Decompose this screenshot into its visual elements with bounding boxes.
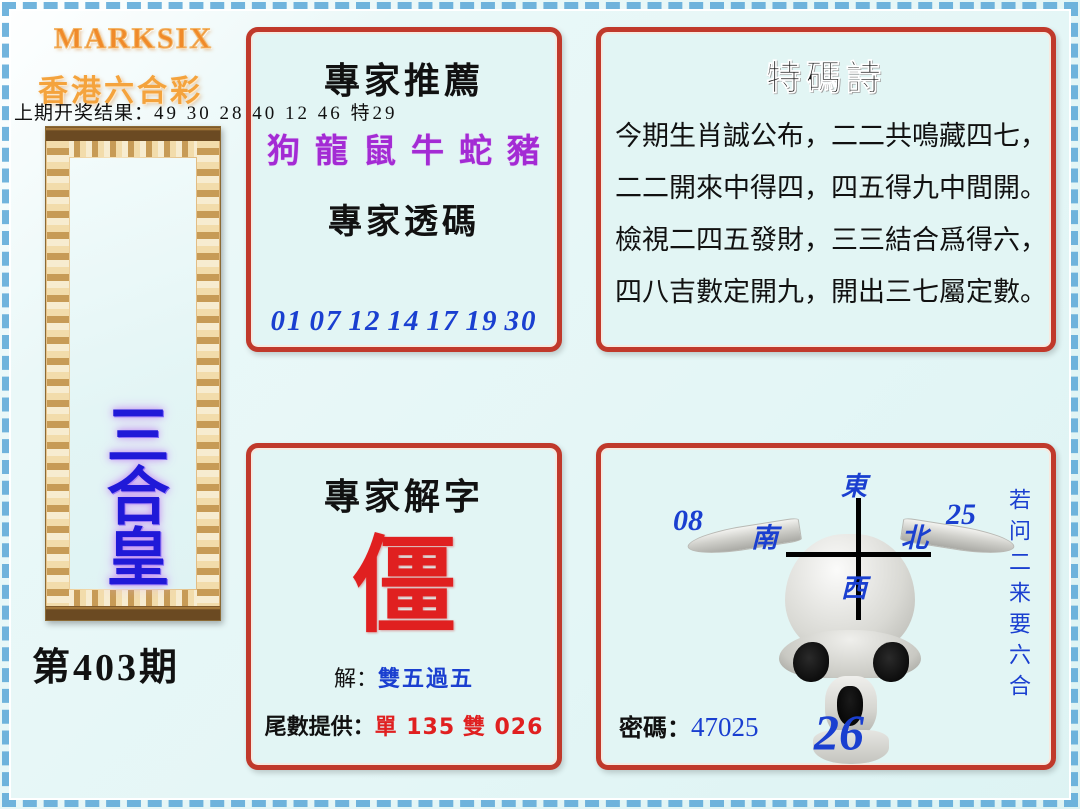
skull-number-left: 08 (673, 504, 703, 538)
poem-line-1: 二二開來中得四，四五得九中間開。 (615, 166, 1051, 205)
skull-illustration-wrap: 東 西 南 北 08 25 26 若问二来要六合 密碼：47025 (601, 448, 1051, 765)
issue-period: 第403期 (32, 636, 180, 691)
zodiac-item-2: 鼠 (363, 131, 397, 170)
tail-odd: 單 135 (375, 715, 456, 740)
tail-number-row: 尾數提供：單 135 雙 026 (251, 709, 557, 741)
skull-eye-right (873, 642, 909, 682)
scroll-banner: 三合皇 (45, 126, 221, 621)
scroll-title: 三合皇 (102, 402, 163, 585)
skull-horn-left (686, 517, 802, 559)
skull-number-big: 26 (814, 703, 864, 761)
skull-eye-left (793, 642, 829, 682)
expert-code-2: 12 (349, 305, 382, 337)
scroll-paper: 三合皇 (70, 158, 196, 589)
expert-code-1: 07 (310, 305, 343, 337)
direction-east: 東 (841, 466, 867, 503)
brand-latin: MARKSIX (54, 22, 213, 56)
passcode-label: 密碼： (619, 714, 691, 742)
expert-code-6: 30 (505, 305, 538, 337)
zodiac-item-3: 牛 (411, 131, 445, 170)
expert-card-subtitle: 專家透碼 (251, 194, 557, 243)
zodiac-item-4: 蛇 (459, 131, 493, 170)
tail-even: 雙 026 (463, 715, 544, 740)
passcode-value: 47025 (691, 712, 759, 742)
zodiac-item-5: 豬 (507, 131, 541, 170)
tail-label: 尾數提供： (265, 715, 375, 740)
expert-code-0: 01 (271, 305, 304, 337)
poem-line-2: 檢視二四五發財，三三結合爲得六， (615, 218, 1051, 257)
expert-code-row: 01071214171930 (251, 305, 557, 338)
skull-number-right: 25 (946, 498, 976, 532)
solve-value: 雙五過五 (378, 667, 474, 692)
expert-code-4: 17 (427, 305, 460, 337)
big-character: 僵 (251, 534, 557, 639)
character-decode-card: 專家解字 僵 解：雙五過五 尾數提供：單 135 雙 026 (246, 443, 562, 770)
scroll-ring-right (197, 141, 219, 606)
poem-card-title: 特碼詩 (601, 50, 1051, 101)
expert-card-title: 專家推薦 (251, 52, 557, 104)
special-code-poem-card: 特碼詩 今期生肖誠公布，二二共鳴藏四七， 二二開來中得四，四五得九中間開。 檢視… (596, 27, 1056, 352)
scroll-ring-top (68, 141, 198, 157)
solve-row: 解：雙五過五 (251, 661, 557, 693)
passcode-row: 密碼：47025 (619, 708, 759, 743)
last-result-line: 上期开奖结果：49 30 28 40 12 46 特29 (14, 98, 574, 125)
zodiac-item-1: 龍 (315, 131, 349, 170)
page-root: MARKSIX 香港六合彩 三合皇 第403期 上期开奖结果：49 30 28 … (0, 0, 1080, 809)
scroll-ring-bottom (68, 590, 198, 606)
expert-code-3: 14 (388, 305, 421, 337)
scroll-ring-left (47, 141, 69, 606)
last-result-label: 上期开奖结果： (14, 103, 154, 124)
solve-label: 解： (334, 667, 378, 692)
expert-recommendation-card: 專家推薦 狗龍鼠牛蛇豬 專家透碼 01071214171930 (246, 27, 562, 352)
char-card-title: 專家解字 (251, 468, 557, 520)
zodiac-item-0: 狗 (267, 131, 301, 170)
expert-code-5: 19 (466, 305, 499, 337)
last-result-numbers: 49 30 28 40 12 46 特29 (154, 103, 398, 124)
poem-line-0: 今期生肖誠公布，二二共鳴藏四七， (615, 114, 1051, 153)
skull-compass-card: 東 西 南 北 08 25 26 若问二来要六合 密碼：47025 (596, 443, 1056, 770)
direction-west: 西 (841, 568, 867, 605)
direction-south: 南 (751, 516, 778, 555)
zodiac-row: 狗龍鼠牛蛇豬 (251, 124, 557, 172)
vertical-verse: 若问二来要六合 (1001, 488, 1033, 705)
direction-north: 北 (901, 516, 928, 555)
poem-line-3: 四八吉數定開九，開出三七屬定數。 (615, 270, 1051, 309)
